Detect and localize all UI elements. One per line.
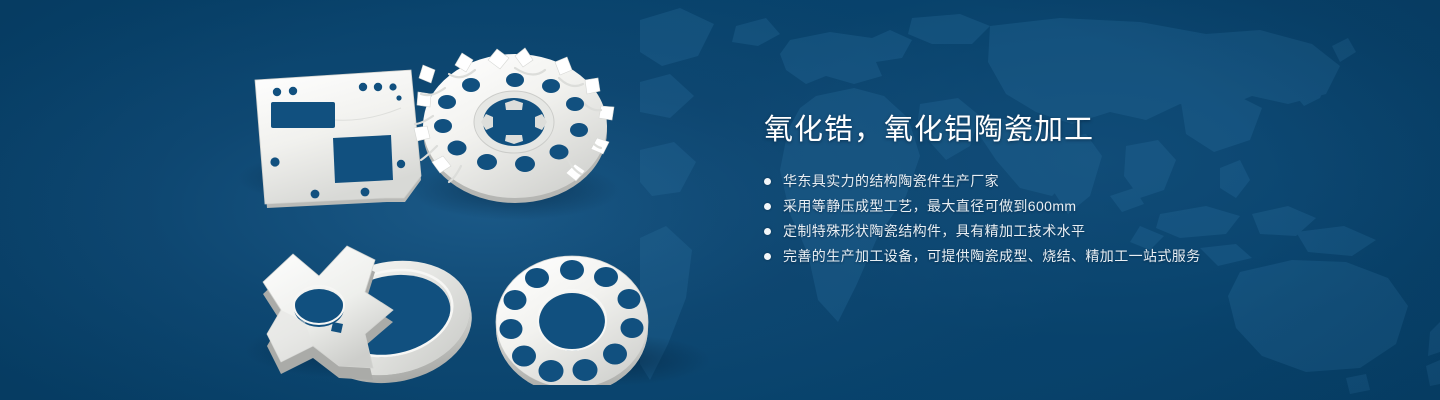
list-item: 采用等静压成型工艺，最大直径可做到600mm [764, 195, 1384, 217]
feature-list: 华东具实力的结构陶瓷件生产厂家 采用等静压成型工艺，最大直径可做到600mm 定… [764, 170, 1384, 267]
list-item: 完善的生产加工设备，可提供陶瓷成型、烧结、精加工一站式服务 [764, 245, 1384, 267]
bullet-dot-icon [764, 228, 771, 235]
list-item: 定制特殊形状陶瓷结构件，具有精加工技术水平 [764, 220, 1384, 242]
bullet-dot-icon [764, 253, 771, 260]
banner-copy: 氧化锆，氧化铝陶瓷加工 华东具实力的结构陶瓷件生产厂家 采用等静压成型工艺，最大… [764, 110, 1384, 270]
feature-text: 完善的生产加工设备，可提供陶瓷成型、烧结、精加工一站式服务 [783, 245, 1201, 267]
ceramic-mounting-plate [255, 70, 421, 208]
feature-text: 华东具实力的结构陶瓷件生产厂家 [783, 170, 999, 192]
product-photo-group [215, 30, 745, 385]
page-title: 氧化锆，氧化铝陶瓷加工 [764, 110, 1384, 150]
hero-banner: 氧化锆，氧化铝陶瓷加工 华东具实力的结构陶瓷件生产厂家 采用等静压成型工艺，最大… [0, 0, 1440, 400]
list-item: 华东具实力的结构陶瓷件生产厂家 [764, 170, 1384, 192]
feature-text: 定制特殊形状陶瓷结构件，具有精加工技术水平 [783, 220, 1085, 242]
bullet-dot-icon [764, 203, 771, 210]
ceramic-perforated-disc [496, 256, 648, 385]
bullet-dot-icon [764, 178, 771, 185]
feature-text: 采用等静压成型工艺，最大直径可做到600mm [783, 195, 1076, 217]
